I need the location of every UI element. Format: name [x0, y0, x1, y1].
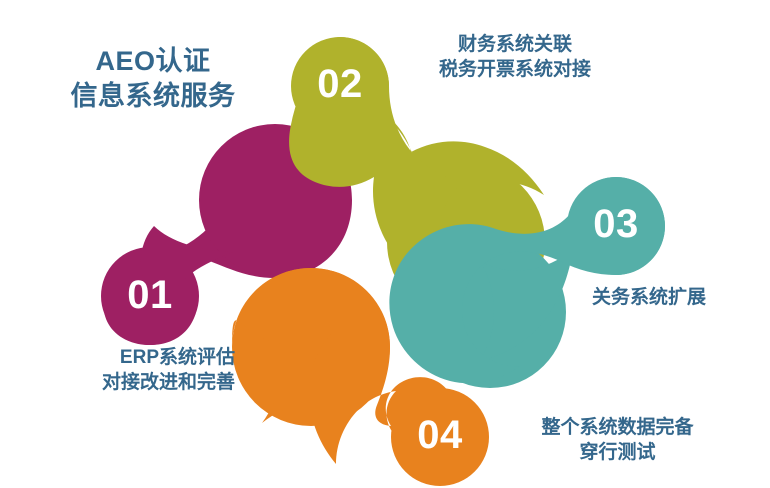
step-3-caption: 关务系统扩展 — [592, 285, 767, 310]
step-1-caption-line-2: 对接改进和完善 — [10, 370, 235, 395]
step-1-caption-line-1: ERP系统评估 — [10, 345, 235, 370]
step-4-caption-line-1: 整个系统数据完备 — [495, 415, 740, 440]
step-4-number: 04 — [400, 415, 480, 455]
step-3-caption-line-1: 关务系统扩展 — [592, 285, 767, 310]
step-2-caption-line-1: 财务系统关联 — [400, 32, 630, 57]
step-3-number: 03 — [576, 204, 656, 244]
page-title-line-1: AEO认证 — [38, 44, 268, 79]
infographic-canvas: 01 02 03 04 AEO认证 信息系统服务 ERP系统评估 对接改进和完善… — [0, 0, 770, 488]
step-2-caption-line-2: 税务开票系统对接 — [400, 57, 630, 82]
step-1-caption: ERP系统评估 对接改进和完善 — [10, 345, 235, 395]
step-1-number: 01 — [110, 275, 190, 315]
step-4-caption: 整个系统数据完备 穿行测试 — [495, 415, 740, 465]
step-4-caption-line-2: 穿行测试 — [495, 440, 740, 465]
page-title: AEO认证 信息系统服务 — [38, 44, 268, 113]
step-2-number: 02 — [300, 64, 380, 104]
step-2-caption: 财务系统关联 税务开票系统对接 — [400, 32, 630, 82]
page-title-line-2: 信息系统服务 — [38, 79, 268, 114]
